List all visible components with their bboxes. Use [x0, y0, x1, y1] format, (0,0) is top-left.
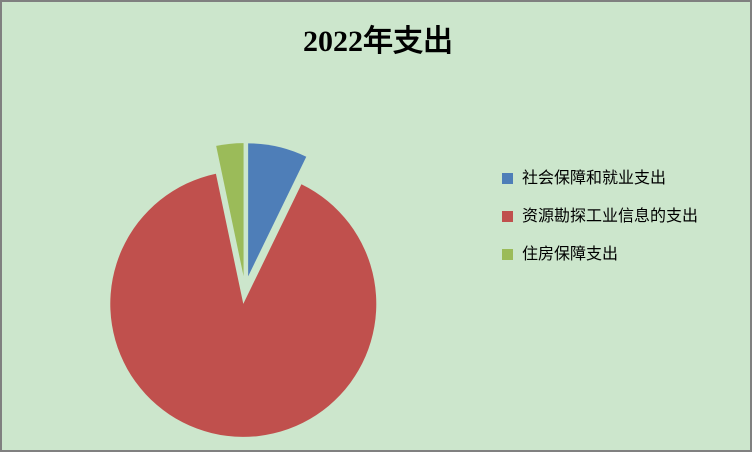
legend-item-1[interactable]: 资源勘探工业信息的支出	[502, 206, 742, 228]
legend-label-1: 资源勘探工业信息的支出	[522, 206, 730, 228]
legend-item-2[interactable]: 住房保障支出	[502, 244, 742, 266]
chart-title: 2022年支出	[2, 22, 752, 62]
chart-frame: 2022年支出 社会保障和就业支出 资源勘探工业信息的支出 住房保障支出	[0, 0, 752, 452]
legend-swatch-icon-2	[502, 249, 513, 260]
pie-plot-area	[2, 58, 492, 448]
legend-label-2: 住房保障支出	[522, 244, 730, 266]
legend-swatch-icon-1	[502, 211, 513, 222]
legend-item-0[interactable]: 社会保障和就业支出	[502, 168, 742, 190]
legend-label-0: 社会保障和就业支出	[522, 168, 730, 190]
pie-slice-group	[110, 143, 376, 437]
chart-legend: 社会保障和就业支出 资源勘探工业信息的支出 住房保障支出	[502, 168, 742, 282]
legend-swatch-icon-0	[502, 173, 513, 184]
pie-chart-svg	[2, 58, 492, 448]
